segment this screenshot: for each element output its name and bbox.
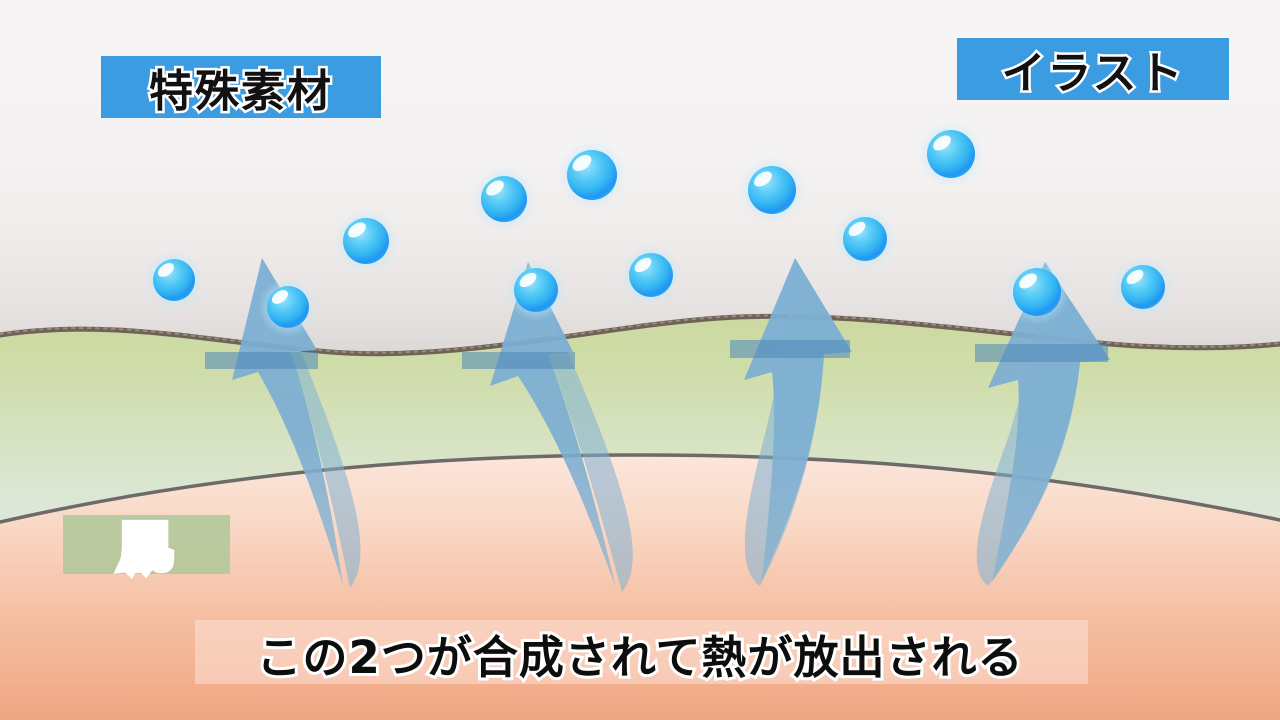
bubble	[1004, 259, 1070, 325]
bubble	[334, 209, 398, 273]
label-special-material-text: 特殊素材	[149, 55, 333, 119]
label-special-material: 特殊素材	[101, 56, 381, 118]
label-illustration: イラスト	[957, 38, 1229, 100]
bubble	[834, 208, 896, 270]
bubble	[144, 250, 204, 310]
bubble	[918, 121, 984, 187]
bubble	[558, 141, 626, 209]
caption-band	[195, 620, 1088, 684]
bubble	[1112, 256, 1174, 318]
diagram-canvas: 特殊素材 イラスト 肌 肌 この2つが合成されて熱が放出される	[0, 0, 1280, 720]
bubble	[472, 167, 536, 231]
bubble	[258, 277, 318, 337]
label-skin-text-halo: 肌	[125, 514, 167, 575]
label-illustration-text: イラスト	[1001, 37, 1184, 101]
bubble	[620, 244, 682, 306]
bubble	[739, 157, 805, 223]
label-skin: 肌 肌	[63, 515, 230, 574]
bubble	[505, 259, 567, 321]
